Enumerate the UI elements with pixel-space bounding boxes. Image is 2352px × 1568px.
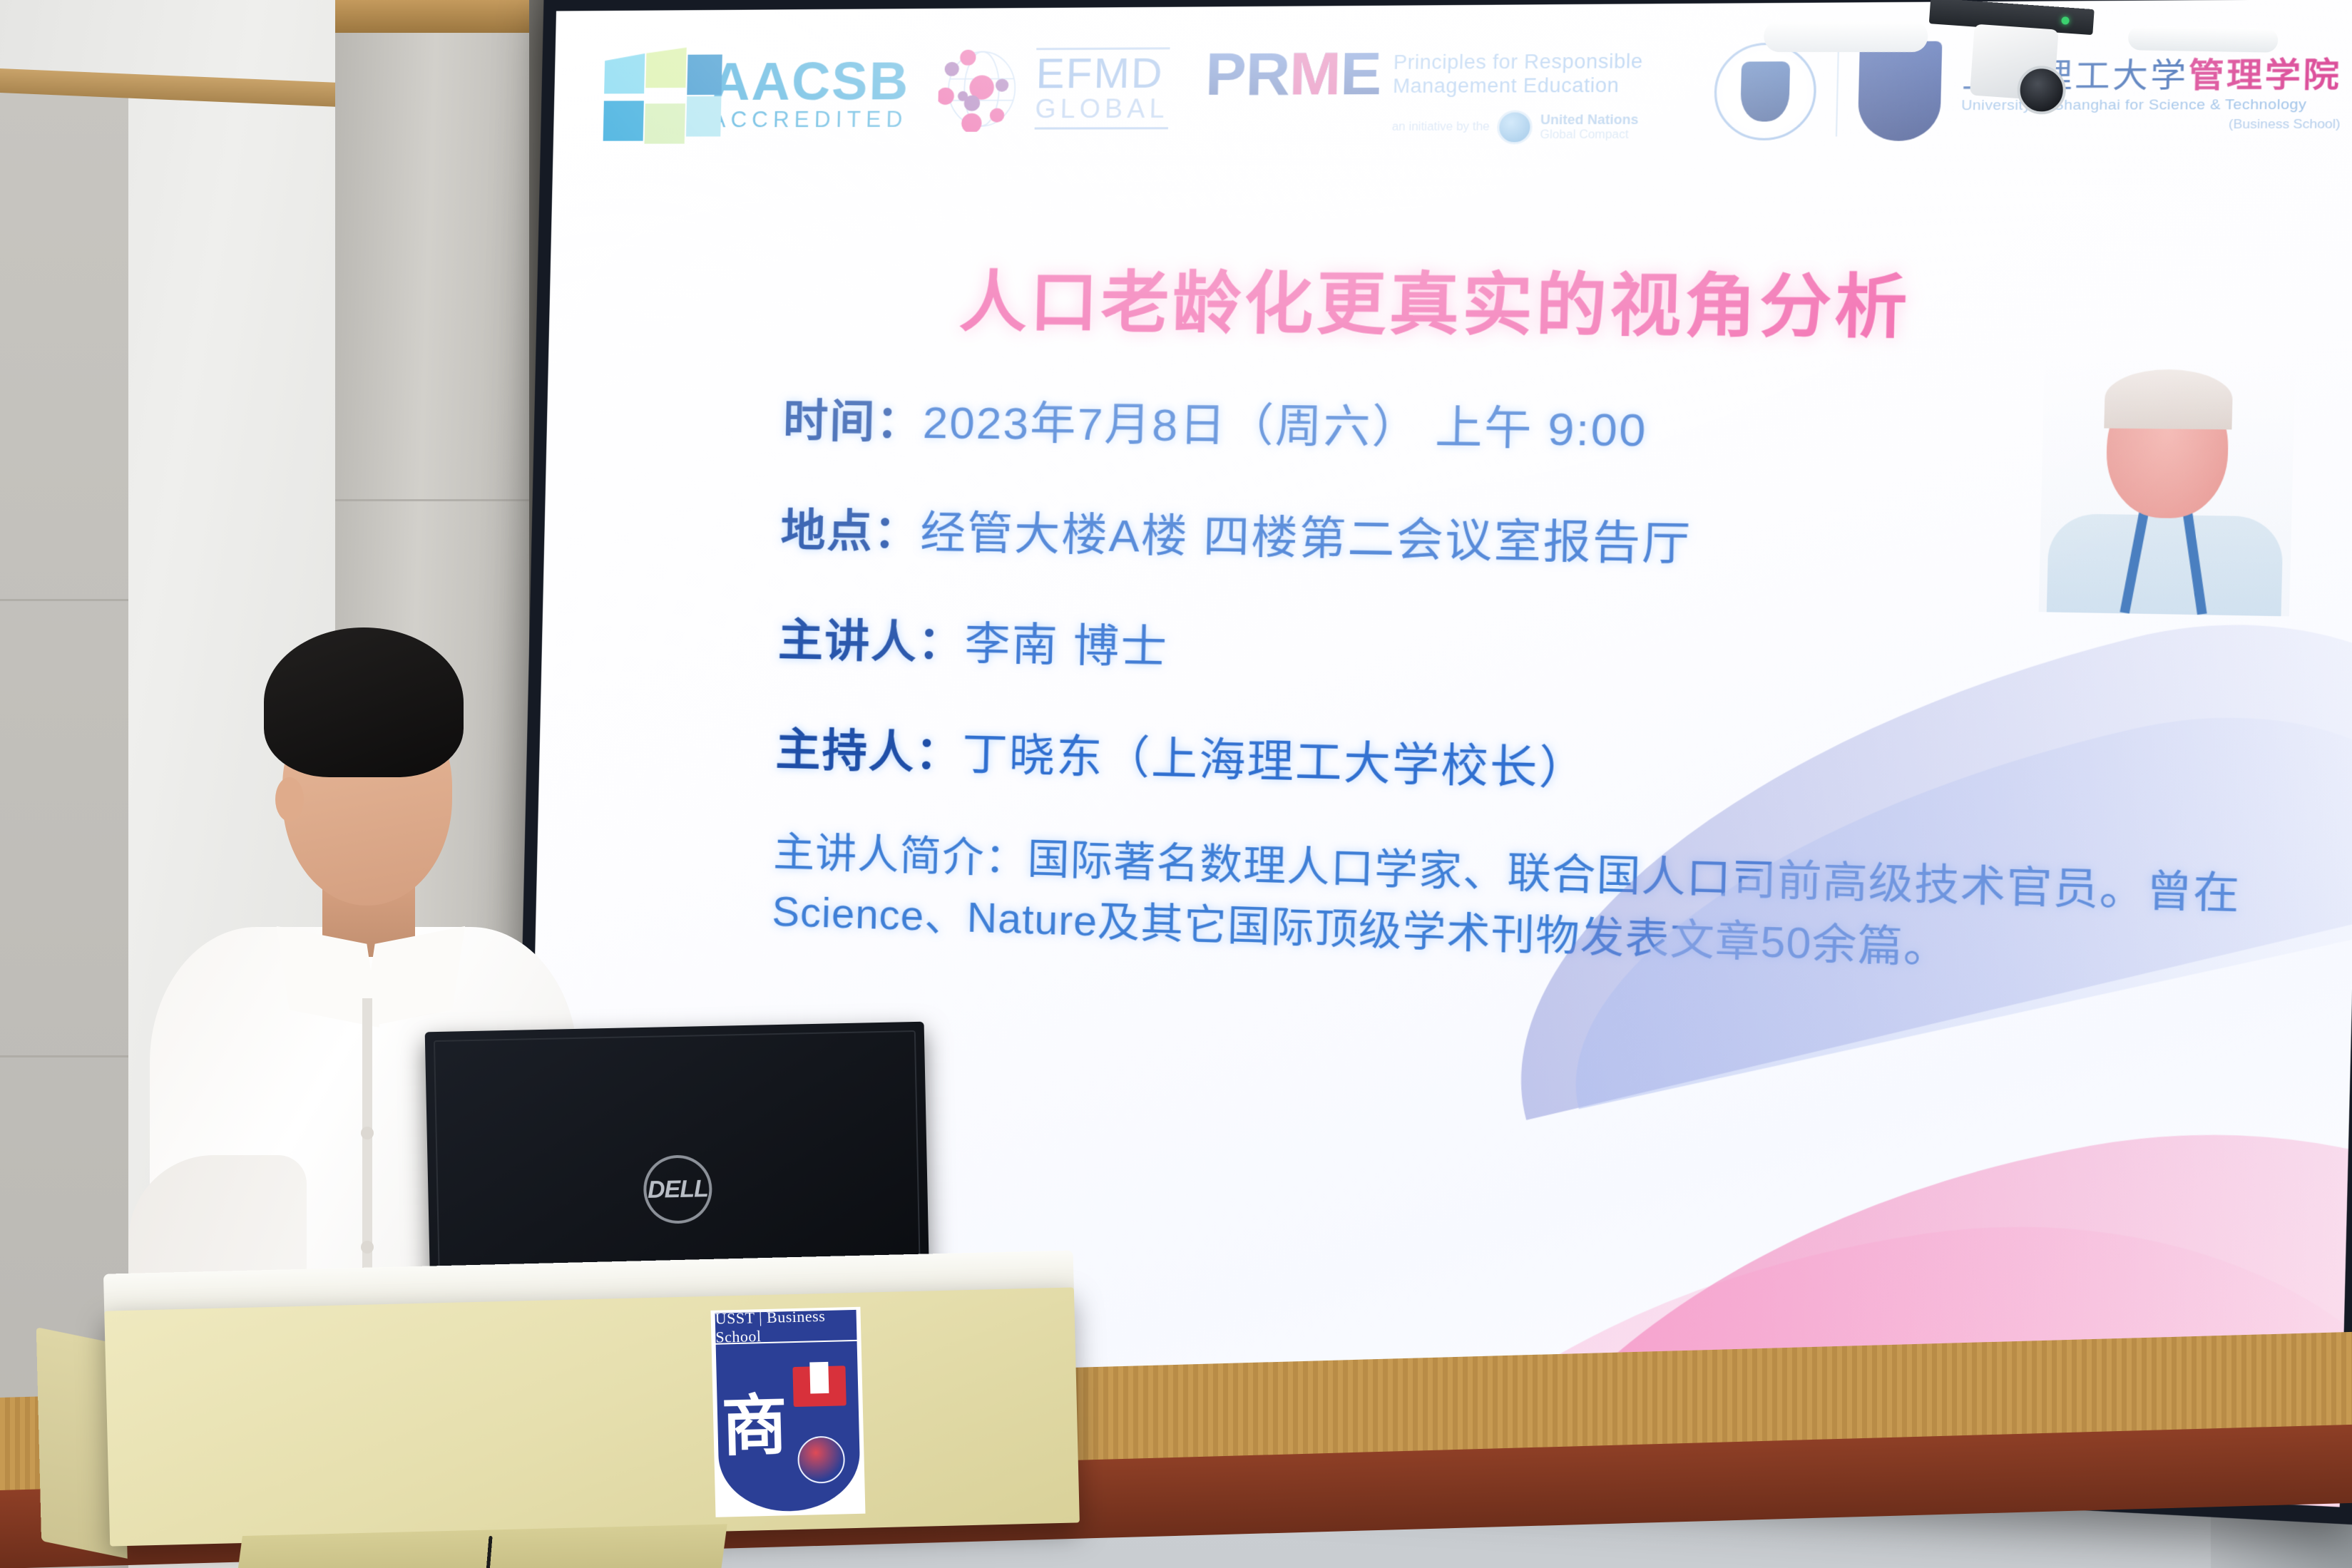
- open-book-icon: [793, 1365, 847, 1407]
- prme-pr: PR: [1205, 41, 1290, 108]
- usst-business-school-emblem: USST | Business School 商: [710, 1307, 865, 1517]
- efmd-wordmark: EFMD GLOBAL: [1035, 48, 1170, 130]
- logo-divider: [1836, 46, 1839, 137]
- info-value-location: 经管大楼A楼 四楼第二会议室报告厅: [920, 508, 1692, 571]
- prme-logo: PRME Principles for Responsible Manageme…: [1204, 43, 1644, 145]
- emblem-globe-quadrant: [789, 1425, 853, 1494]
- emblem-header-text: USST | Business School: [715, 1310, 857, 1343]
- prme-m: M: [1289, 41, 1341, 108]
- panel-seam: [335, 499, 549, 501]
- efmd-name: EFMD: [1036, 48, 1170, 94]
- prme-tagline-block: Principles for Responsible Management Ed…: [1391, 43, 1643, 144]
- prme-e: E: [1339, 41, 1381, 108]
- presenter-ear: [275, 777, 304, 821]
- dell-brand-text: DELL: [648, 1175, 709, 1204]
- bio-label: 主讲人简介：: [773, 829, 1028, 883]
- info-label-host: 主持人：: [775, 725, 963, 779]
- slide-body: 时间：2023年7月8日（周六） 上午 9:00 地点：经管大楼A楼 四楼第二会…: [772, 384, 2318, 991]
- efmd-subtitle: GLOBAL: [1035, 93, 1170, 130]
- efmd-network-icon: [938, 46, 1026, 132]
- podium-front-panel: [104, 1287, 1080, 1546]
- prme-initiative-text: an initiative by the: [1391, 121, 1489, 134]
- info-value-speaker: 李南 博士: [964, 619, 1169, 673]
- info-value-host: 丁晓东（上海理工大学校长）: [961, 729, 1589, 795]
- aacsb-logo: AACSB ACCREDITED: [603, 46, 911, 143]
- slide-title: 人口老龄化更真实的视角分析: [958, 248, 1912, 352]
- presenter-shirt-button: [361, 1241, 374, 1254]
- un-line2: Global Compact: [1540, 128, 1629, 141]
- panel-seam: [0, 1055, 128, 1057]
- lectern-podium: USST | Business School 商: [103, 1250, 1080, 1568]
- prme-tagline-line1: Principles for Responsible: [1393, 50, 1643, 75]
- laptop-lid-inner-edge: [434, 1030, 921, 1273]
- info-label-time: 时间：: [782, 396, 923, 448]
- aacsb-name: AACSB: [711, 56, 910, 107]
- emblem-character: 商: [722, 1347, 787, 1505]
- aacsb-wordmark: AACSB ACCREDITED: [710, 56, 910, 133]
- info-label-speaker: 主讲人：: [777, 616, 965, 670]
- usst-seal-icon: [1713, 43, 1817, 140]
- info-label-location: 地点：: [780, 506, 921, 558]
- camera-mount-arm: [1764, 21, 1928, 52]
- camera-status-led-icon: [2061, 16, 2070, 25]
- panel-seam: [0, 599, 128, 601]
- un-globe-icon: [1497, 110, 1533, 144]
- efmd-logo: EFMD GLOBAL: [938, 45, 1170, 132]
- info-line-speaker: 主讲人：李南 博士: [777, 603, 2311, 700]
- usst-school-cn: 管理学院: [2188, 57, 2342, 95]
- emblem-book-quadrant: [788, 1348, 852, 1424]
- pillar-cap-trim: [335, 0, 549, 33]
- info-line-location: 地点：经管大楼A楼 四楼第二会议室报告厅: [780, 494, 2315, 584]
- speaker-bio: 主讲人简介：国际著名数理人口学家、联合国人口司前高级技术官员。曾在 Scienc…: [772, 822, 2306, 990]
- lecture-hall-photo: AACSB ACCREDITED: [0, 0, 2352, 1568]
- laptop-lid: DELL: [425, 1022, 929, 1282]
- globe-icon: [797, 1435, 846, 1484]
- info-line-host: 主持人：丁晓东（上海理工大学校长）: [775, 713, 2309, 817]
- emblem-shield: 商: [716, 1341, 861, 1513]
- un-wordmark: United Nations Global Compact: [1540, 112, 1638, 142]
- prme-tagline-line2: Management Education: [1393, 74, 1643, 98]
- prme-un-endorsement: an initiative by the United Nations Glob…: [1391, 110, 1642, 145]
- un-line1: United Nations: [1540, 112, 1639, 127]
- aacsb-subtitle: ACCREDITED: [710, 107, 909, 133]
- info-value-time: 2023年7月8日（周六） 上午 9:00: [922, 398, 1648, 456]
- presenter-shirt-button: [361, 1127, 374, 1139]
- ceiling-ptz-camera: [1906, 0, 2129, 154]
- prme-wordmark: PRME: [1205, 44, 1381, 106]
- presenter-hair: [264, 627, 464, 777]
- info-line-time: 时间：2023年7月8日（周六） 上午 9:00: [782, 384, 2317, 467]
- ceiling-light-tube: [2128, 26, 2279, 53]
- aacsb-mark-icon: [603, 48, 700, 143]
